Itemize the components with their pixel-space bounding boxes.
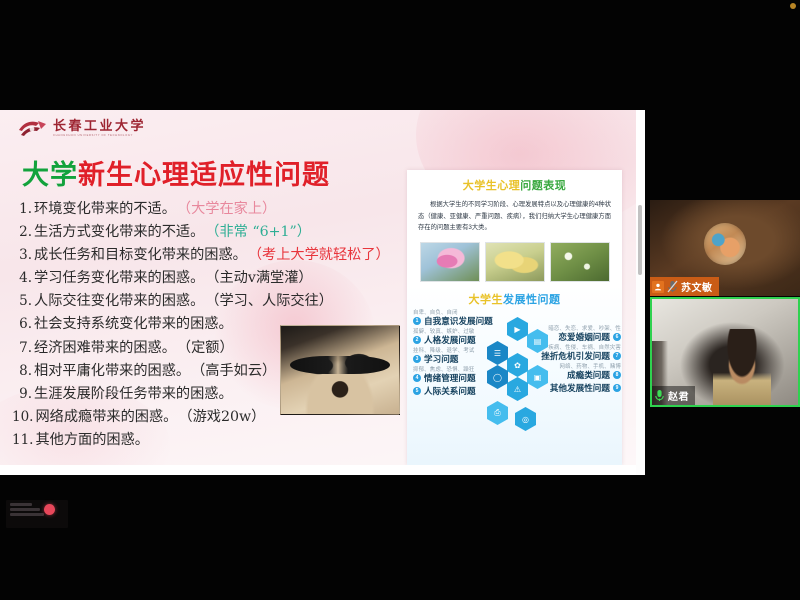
slide-list-item-note: （游戏20w） [178, 410, 265, 424]
dev-problem-item: 疾病、性侵、车祸、自然灾害7挫折危机引发问题 [515, 346, 621, 361]
university-name-en: CHANGCHUN UNIVERSITY OF TECHNOLOGY [53, 135, 146, 138]
dev-problem-item: 暗恋、失恋、求爱、吵架、性6恋爱婚姻问题 [515, 327, 621, 342]
dev-problem-label: 人格发展问题 [424, 336, 476, 345]
dog-photo [280, 325, 400, 415]
slide-list-item-text: 社会支持系统变化带来的困惑。 [34, 317, 233, 331]
slide-list-item-note: （学习、人际交往） [205, 294, 333, 308]
white-blossom-photo [550, 242, 610, 282]
conference-screen: 长春工业大学 CHANGCHUN UNIVERSITY OF TECHNOLOG… [0, 0, 800, 600]
slide-title-green: 大学 [22, 160, 78, 191]
dev-problem-label: 自我意识发展问题 [424, 317, 493, 326]
slide-list-item-text: 网络成瘾带来的困惑。 [35, 410, 177, 424]
slide-list-item-text: 学习任务变化带来的困惑。 [34, 271, 204, 285]
mic-muted-icon [667, 280, 678, 293]
slide-list-item-note: （主动v满堂灌） [205, 271, 312, 285]
info-panel-title: 大学生心理问题表现 [407, 177, 622, 193]
status-dot-icon [790, 3, 796, 9]
overlay-line [10, 513, 44, 516]
slide-list-item-note: （大学在家上） [177, 202, 276, 216]
slide-list-item-text: 环境变化带来的不适。 [34, 202, 176, 216]
dev-problem-label: 其他发展性问题 [550, 384, 610, 393]
slide-title-red: 新生心理适应性问题 [78, 160, 330, 191]
slide-list-item-note: （考上大学就轻松了） [248, 248, 390, 262]
slide-title: 大学新生心理适应性问题 [22, 153, 330, 192]
slide-list-item-number: 11. [12, 434, 33, 448]
university-logo: 长春工业大学 CHANGCHUN UNIVERSITY OF TECHNOLOG… [18, 118, 146, 140]
slide-list-item-text: 生活方式变化带来的不适。 [34, 225, 204, 239]
dev-problem-item: 孤僻、较真、嫉妒、过敏2人格发展问题 [413, 330, 525, 345]
shared-screen-scrollbar[interactable] [638, 205, 642, 275]
university-emblem-icon [18, 118, 48, 140]
overlay-line [10, 508, 40, 511]
dev-problem-item: 5人际关系问题 [413, 387, 525, 396]
slide-list-item-note: （高手如云） [191, 364, 276, 378]
dev-problem-label-row: 2人格发展问题 [413, 336, 476, 345]
dev-panel-title: 大学生发展性问题 [407, 291, 622, 307]
dev-items-left: 自卑、自负、自闭1自我意识发展问题孤僻、较真、嫉妒、过敏2人格发展问题挂科、降级… [413, 311, 525, 400]
slide-list-item-number: 3. [12, 249, 32, 263]
sunglasses-shape [290, 356, 389, 374]
dev-problem-number: 1 [413, 317, 421, 325]
dev-problem-number: 4 [413, 374, 421, 382]
person-silhouette [713, 329, 771, 407]
slide-list-item-number: 8. [12, 365, 32, 379]
participant-1-name: 苏文敏 [681, 279, 713, 294]
info-panel-title-yellow: 大学生心理 [463, 180, 521, 192]
slide-list-item: 3.成长任务和目标变化带来的困惑。（考上大学就轻松了） [12, 248, 412, 263]
slide-list-item-text: 成长任务和目标变化带来的困惑。 [34, 248, 247, 262]
slide-list-item-text: 相对平庸化带来的困惑。 [34, 364, 190, 378]
dev-problem-label-row: 4情绪管理问题 [413, 374, 476, 383]
slide-list-item-number: 6. [12, 318, 32, 332]
participant-tile-1[interactable]: 苏文敏 [650, 200, 800, 296]
lotus-flower-photo [420, 242, 480, 282]
slide-list-item-number: 2. [12, 226, 32, 240]
slide-list-item-note: （定额） [177, 341, 234, 355]
mic-active-icon [654, 389, 665, 402]
dev-problem-item: 挂科、降级、退学、考试3学习问题 [413, 349, 525, 364]
slide-list-item-note: （非常 “6+1”） [205, 225, 311, 239]
dev-problem-number: 3 [413, 355, 421, 363]
slide-list-item-number: 5. [12, 295, 32, 309]
overlay-line [10, 503, 32, 506]
dev-problem-label: 挫折危机引发问题 [541, 352, 610, 361]
dev-problem-item: 自卑、自负、自闭1自我意识发展问题 [413, 311, 525, 326]
dev-problem-label: 情绪管理问题 [424, 374, 476, 383]
dev-panel-title-blue: 发展性问题 [503, 294, 561, 306]
slide-list-item-number: 7. [12, 342, 32, 356]
dev-problem-label: 成瘾类问题 [567, 371, 610, 380]
recording-dot-icon [44, 504, 55, 515]
participant-tile-2[interactable]: 赵君 [650, 297, 800, 407]
slide-list-item: 2.生活方式变化带来的不适。（非常 “6+1”） [12, 225, 412, 240]
slide-list-item-number: 4. [12, 272, 32, 286]
slide-list-item: 11.其他方面的困惑。 [12, 433, 412, 448]
shared-screen-region[interactable]: 长春工业大学 CHANGCHUN UNIVERSITY OF TECHNOLOG… [0, 110, 645, 475]
avatar [704, 223, 746, 265]
dev-problem-label: 人际关系问题 [424, 387, 476, 396]
participant-1-name-chip: 苏文敏 [650, 277, 719, 296]
dev-problem-item: 抑郁、焦虑、恐惧、躁狂4情绪管理问题 [413, 368, 525, 383]
dev-problem-item: 网络、药物、手机、赌博8成瘾类问题 [515, 365, 621, 380]
slide-list-item-text: 人际交往变化带来的困惑。 [34, 294, 204, 308]
yellow-orchid-photo [485, 242, 545, 282]
dev-problem-label-row: 9其他发展性问题 [550, 384, 621, 393]
info-panel-title-green: 问题表现 [520, 180, 566, 192]
hex-icon-print: ⎙ [487, 401, 508, 425]
dev-problem-number: 7 [613, 352, 621, 360]
dev-problem-number: 8 [613, 371, 621, 379]
dev-problem-label: 学习问题 [424, 355, 458, 364]
dev-problem-item: 9其他发展性问题 [515, 384, 621, 393]
dev-problem-label-row: 8成瘾类问题 [567, 371, 621, 380]
hex-icon-ring: ◎ [515, 407, 536, 431]
slide-list-item-text: 经济困难带来的困惑。 [34, 341, 176, 355]
dev-panel-title-yellow: 大学生 [469, 294, 504, 306]
slide-list-item-number: 10. [12, 411, 33, 425]
slide-list-item-number: 1. [12, 203, 32, 217]
participant-2-name-chip: 赵君 [652, 386, 695, 405]
dev-problem-label: 恋爱婚姻问题 [558, 333, 610, 342]
dev-problem-label-row: 1自我意识发展问题 [413, 317, 493, 326]
presentation-slide: 长春工业大学 CHANGCHUN UNIVERSITY OF TECHNOLOG… [0, 110, 636, 465]
recording-mini-overlay[interactable] [6, 500, 68, 528]
dev-problem-number: 6 [613, 333, 621, 341]
slide-list-item: 1.环境变化带来的不适。（大学在家上） [12, 202, 412, 217]
dev-problem-label-row: 6恋爱婚姻问题 [558, 333, 621, 342]
dev-problem-label-row: 3学习问题 [413, 355, 458, 364]
dev-problem-number: 2 [413, 336, 421, 344]
university-name-cn: 长春工业大学 [53, 120, 146, 133]
info-panel-body: 根据大学生的不同学习阶段、心理发展特点以及心理健康的4种状态（健康、亚健康、严重… [418, 199, 611, 234]
slide-list-item: 5.人际交往变化带来的困惑。（学习、人际交往） [12, 294, 412, 309]
dev-items-right: 暗恋、失恋、求爱、吵架、性6恋爱婚姻问题疾病、性侵、车祸、自然灾害7挫折危机引发… [515, 327, 621, 397]
dev-problem-label-row: 7挫折危机引发问题 [541, 352, 621, 361]
slide-list-item-text: 生涯发展阶段任务带来的困惑。 [34, 387, 233, 401]
slide-list-item-text: 其他方面的困惑。 [35, 433, 149, 447]
participant-2-name: 赵君 [668, 388, 689, 403]
dev-problem-number: 5 [413, 387, 421, 395]
info-panel-thumbnails [407, 242, 622, 282]
person-icon [652, 281, 664, 293]
dev-problem-number: 9 [613, 384, 621, 392]
slide-list-item: 4.学习任务变化带来的困惑。（主动v满堂灌） [12, 271, 412, 286]
development-problems-panel: 大学生发展性问题 ▶ ▤ ☰ ✿ ▣ ◯ ⚠ ⎙ ◎ 自卑、自负、自闭1自我意识… [407, 285, 622, 465]
dev-problem-label-row: 5人际关系问题 [413, 387, 476, 396]
slide-list-item-number: 9. [12, 388, 32, 402]
